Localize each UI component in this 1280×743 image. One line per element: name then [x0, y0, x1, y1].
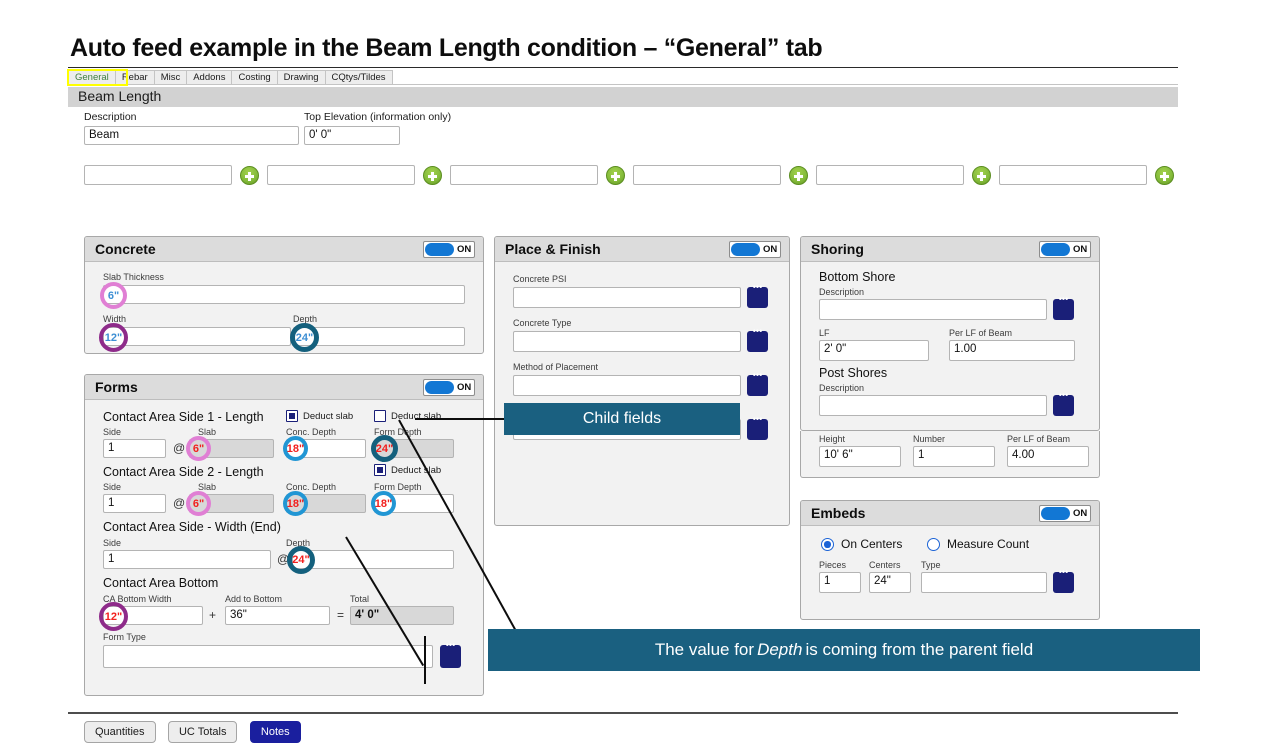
- deduct-slab-label-1: Deduct slab: [303, 411, 353, 422]
- add-input-2[interactable]: [267, 165, 415, 185]
- post-shores-description-label: Description: [819, 383, 864, 393]
- embeds-centers-label: Centers: [869, 560, 901, 570]
- tab-strip-filler: [393, 70, 1178, 85]
- embeds-type-label: Type: [921, 560, 941, 570]
- panel-shoring-toggle[interactable]: ON: [1039, 241, 1091, 258]
- toggle-knob: [425, 243, 454, 256]
- panel-shoring-metrics: Height Number Per LF of Beam 10' 6" 1 4.…: [800, 431, 1100, 478]
- panel-embeds: Embeds ON On Centers Measure Count Piece…: [800, 500, 1100, 620]
- panel-embeds-header: Embeds ON: [801, 501, 1099, 526]
- add-plus-icon-1[interactable]: [240, 166, 259, 185]
- annotation-circle-side1-form-depth: 24": [371, 435, 398, 462]
- callout-parent-suffix: is coming from the parent field: [805, 640, 1033, 660]
- toggle-state-label: ON: [457, 382, 471, 393]
- toggle-state-label: ON: [1073, 508, 1087, 519]
- description-label: Description: [84, 111, 137, 123]
- method-placement-label: Method of Placement: [513, 362, 598, 372]
- tab-general[interactable]: General: [68, 70, 116, 85]
- panel-shoring-header: Shoring ON: [801, 237, 1099, 262]
- bottom-shore-description-input[interactable]: [819, 299, 1047, 320]
- radio-on-centers-label: On Centers: [841, 537, 902, 551]
- concrete-psi-browse-button[interactable]: [747, 287, 768, 308]
- side2-side-label: Side: [103, 482, 121, 492]
- footer-divider: [68, 712, 1178, 714]
- embeds-pieces-input[interactable]: 1: [819, 572, 861, 593]
- bottom-shore-description-label: Description: [819, 287, 864, 297]
- side2-slab-value: 6": [193, 498, 204, 510]
- sidewidth-depth-input[interactable]: [292, 550, 454, 569]
- post-shores-description-input[interactable]: [819, 395, 1047, 416]
- tab-rebar[interactable]: Rebar: [116, 70, 155, 85]
- panel-forms-title: Forms: [95, 379, 138, 395]
- panel-place-finish-title: Place & Finish: [505, 241, 601, 257]
- panel-forms-header: Forms ON: [85, 375, 483, 400]
- annotation-circle-side1-slab: 6": [186, 436, 211, 461]
- callout-parent-italic: Depth: [754, 640, 805, 660]
- sidewidth-side-input[interactable]: 1: [103, 550, 271, 569]
- annotation-circle-side2-slab: 6": [186, 491, 211, 516]
- callout-parent-prefix: The value for: [655, 640, 754, 660]
- ca-bottom-width-value: 12": [105, 611, 122, 623]
- panel-concrete-body: Slab Thickness 6" Width 12" Depth 24": [85, 262, 483, 354]
- toggle-state-label: ON: [457, 244, 471, 255]
- side1-conc-depth-value: 18": [287, 443, 304, 455]
- uc-totals-button[interactable]: UC Totals: [168, 721, 237, 743]
- deduct-slab-checkbox-conc-1[interactable]: [286, 410, 298, 422]
- annotation-circle-side2-conc-depth: 18": [283, 491, 308, 516]
- tab-label: Drawing: [284, 73, 319, 83]
- annotation-circle-sidewidth-depth: 24": [287, 546, 315, 574]
- toggle-knob: [1041, 507, 1070, 520]
- bottom-shore-lf-input[interactable]: 2' 0": [819, 340, 929, 361]
- toggle-knob: [731, 243, 760, 256]
- embeds-type-browse-button[interactable]: [1053, 572, 1074, 593]
- panel-shoring-body: Bottom Shore Description LF Per LF of Be…: [801, 262, 1099, 431]
- toggle-state-label: ON: [763, 244, 777, 255]
- concrete-type-label: Concrete Type: [513, 318, 571, 328]
- side1-side-label: Side: [103, 427, 121, 437]
- panel-concrete-header: Concrete ON: [85, 237, 483, 262]
- sidewidth-depth-value: 24": [292, 554, 309, 566]
- panel-concrete-toggle[interactable]: ON: [423, 241, 475, 258]
- deduct-slab-checkbox-form-2[interactable]: [374, 464, 386, 476]
- slab-thickness-label: Slab Thickness: [103, 272, 164, 282]
- connector-line-horizontal: [415, 418, 507, 420]
- quantities-button[interactable]: Quantities: [84, 721, 156, 743]
- post-shores-per-lf-input[interactable]: 4.00: [1007, 446, 1089, 467]
- tab-label: Addons: [193, 73, 225, 83]
- annotation-circle-slab-thickness: 6": [100, 282, 127, 309]
- total-label: Total: [350, 594, 369, 604]
- bottom-shore-lf-label: LF: [819, 328, 830, 338]
- deduct-slab-label-3: Deduct slab: [391, 465, 441, 476]
- deduct-slab-checkbox-form-1[interactable]: [374, 410, 386, 422]
- tab-cqtys-tildes[interactable]: CQtys/Tildes: [326, 70, 393, 85]
- forms-side-width-heading: Contact Area Side - Width (End): [103, 520, 281, 534]
- callout-child-fields: Child fields: [504, 403, 740, 435]
- tab-label: General: [75, 73, 109, 83]
- side2-at-symbol: @: [173, 496, 185, 510]
- post-shores-per-lf-label: Per LF of Beam: [1007, 434, 1070, 444]
- post-shores-heading: Post Shores: [819, 366, 887, 380]
- form-type-input[interactable]: [103, 645, 433, 668]
- post-shores-number-label: Number: [913, 434, 945, 444]
- embeds-type-input[interactable]: [921, 572, 1047, 593]
- equals-symbol: =: [337, 608, 344, 622]
- panel-forms-toggle[interactable]: ON: [423, 379, 475, 396]
- sidewidth-side-label: Side: [103, 538, 121, 548]
- add-input-6[interactable]: [999, 165, 1147, 185]
- connector-line-vertical: [424, 636, 426, 684]
- forms-bottom-heading: Contact Area Bottom: [103, 576, 218, 590]
- width-input[interactable]: [103, 327, 291, 346]
- side1-at-symbol: @: [173, 441, 185, 455]
- post-shores-browse-button[interactable]: [1053, 395, 1074, 416]
- forms-side2-heading: Contact Area Side 2 - Length: [103, 465, 264, 479]
- callout-parent-field: The value for Depth is coming from the p…: [488, 629, 1200, 671]
- concrete-type-browse-button[interactable]: [747, 331, 768, 352]
- page-title: Auto feed example in the Beam Length con…: [70, 34, 822, 63]
- post-shores-height-label: Height: [819, 434, 845, 444]
- radio-on-centers[interactable]: [821, 538, 834, 551]
- notes-button[interactable]: Notes: [250, 721, 301, 743]
- side2-conc-depth-value: 18": [287, 498, 304, 510]
- bottom-button-bar: Quantities UC Totals Notes: [84, 721, 309, 743]
- annotation-circle-depth: 24": [290, 323, 319, 352]
- panel-embeds-body: On Centers Measure Count Pieces Centers …: [801, 526, 1099, 620]
- top-elevation-input[interactable]: 0' 0": [304, 126, 400, 145]
- panel-shoring-metrics-body: Height Number Per LF of Beam 10' 6" 1 4.…: [801, 431, 1099, 476]
- annotation-circle-width: 12": [99, 323, 128, 352]
- panel-concrete-title: Concrete: [95, 241, 156, 257]
- callout-child-fields-text: Child fields: [583, 410, 661, 428]
- panel-embeds-title: Embeds: [811, 505, 865, 521]
- post-shores-number-input[interactable]: 1: [913, 446, 995, 467]
- annotation-circle-side1-conc-depth: 18": [283, 436, 308, 461]
- panel-embeds-toggle[interactable]: ON: [1039, 505, 1091, 522]
- application-window: General Rebar Misc Addons Costing Drawin…: [68, 70, 1178, 705]
- add-to-bottom-label: Add to Bottom: [225, 594, 282, 604]
- tab-addons[interactable]: Addons: [187, 70, 232, 85]
- side2-form-depth-value: 18": [375, 498, 392, 510]
- method-placement-browse-button[interactable]: [747, 375, 768, 396]
- bottom-shore-per-lf-label: Per LF of Beam: [949, 328, 1012, 338]
- embeds-centers-input[interactable]: 24": [869, 572, 911, 593]
- tab-label: CQtys/Tildes: [332, 73, 386, 83]
- bottom-shore-browse-button[interactable]: [1053, 299, 1074, 320]
- add-input-4[interactable]: [633, 165, 781, 185]
- depth-value: 24": [296, 332, 313, 344]
- tab-label: Misc: [161, 73, 181, 83]
- title-divider: [68, 67, 1178, 68]
- method-finishing-browse-button[interactable]: [747, 419, 768, 440]
- side2-side-input[interactable]: 1: [103, 494, 166, 513]
- embeds-pieces-label: Pieces: [819, 560, 846, 570]
- panel-place-finish-header: Place & Finish ON: [495, 237, 789, 262]
- forms-side1-heading: Contact Area Side 1 - Length: [103, 410, 264, 424]
- side1-form-depth-value: 24": [376, 443, 393, 455]
- toggle-knob: [425, 381, 454, 394]
- add-field-row: [84, 165, 1174, 187]
- panel-place-finish: Place & Finish ON Concrete PSI Concrete …: [494, 236, 790, 526]
- panel-shoring-title: Shoring: [811, 241, 864, 257]
- annotation-circle-side2-form-depth: 18": [371, 491, 396, 516]
- panel-concrete: Concrete ON Slab Thickness 6" Width 12" …: [84, 236, 484, 354]
- concrete-psi-label: Concrete PSI: [513, 274, 567, 284]
- post-shores-height-input[interactable]: 10' 6": [819, 446, 901, 467]
- add-plus-icon-5[interactable]: [972, 166, 991, 185]
- add-plus-icon-4[interactable]: [789, 166, 808, 185]
- bottom-shore-heading: Bottom Shore: [819, 270, 895, 284]
- slab-thickness-input[interactable]: [103, 285, 465, 304]
- side1-side-input[interactable]: 1: [103, 439, 166, 458]
- tab-label: Costing: [238, 73, 270, 83]
- total-input: 4' 0": [350, 606, 454, 625]
- form-type-label: Form Type: [103, 632, 146, 642]
- panel-place-finish-toggle[interactable]: ON: [729, 241, 781, 258]
- tab-bar: General Rebar Misc Addons Costing Drawin…: [68, 70, 1178, 85]
- panel-shoring: Shoring ON Bottom Shore Description LF P…: [800, 236, 1100, 431]
- toggle-state-label: ON: [1073, 244, 1087, 255]
- concrete-type-input[interactable]: [513, 331, 741, 352]
- bottom-shore-per-lf-input[interactable]: 1.00: [949, 340, 1075, 361]
- add-input-1[interactable]: [84, 165, 232, 185]
- add-to-bottom-input[interactable]: 36": [225, 606, 330, 625]
- radio-measure-count-label: Measure Count: [947, 537, 1029, 551]
- width-value: 12": [105, 332, 122, 344]
- description-input[interactable]: Beam: [84, 126, 299, 145]
- add-input-3[interactable]: [450, 165, 598, 185]
- condition-title: Beam Length: [78, 88, 161, 104]
- annotation-circle-ca-bottom-width: 12": [99, 602, 128, 631]
- add-plus-icon-6[interactable]: [1155, 166, 1174, 185]
- panel-place-finish-body: Concrete PSI Concrete Type Method of Pla…: [495, 262, 789, 526]
- slab-thickness-value: 6": [108, 290, 119, 302]
- method-placement-input[interactable]: [513, 375, 741, 396]
- add-plus-icon-2[interactable]: [423, 166, 442, 185]
- condition-title-bar: Beam Length: [68, 87, 1178, 107]
- tab-label: Rebar: [122, 73, 148, 83]
- plus-symbol: +: [209, 608, 216, 622]
- add-plus-icon-3[interactable]: [606, 166, 625, 185]
- concrete-psi-input[interactable]: [513, 287, 741, 308]
- toggle-knob: [1041, 243, 1070, 256]
- radio-measure-count[interactable]: [927, 538, 940, 551]
- tab-drawing[interactable]: Drawing: [278, 70, 326, 85]
- top-elevation-label: Top Elevation (information only): [304, 111, 451, 123]
- side1-slab-value: 6": [193, 443, 204, 455]
- tab-costing[interactable]: Costing: [232, 70, 277, 85]
- form-type-browse-button[interactable]: [440, 645, 461, 668]
- add-input-5[interactable]: [816, 165, 964, 185]
- tab-misc[interactable]: Misc: [155, 70, 188, 85]
